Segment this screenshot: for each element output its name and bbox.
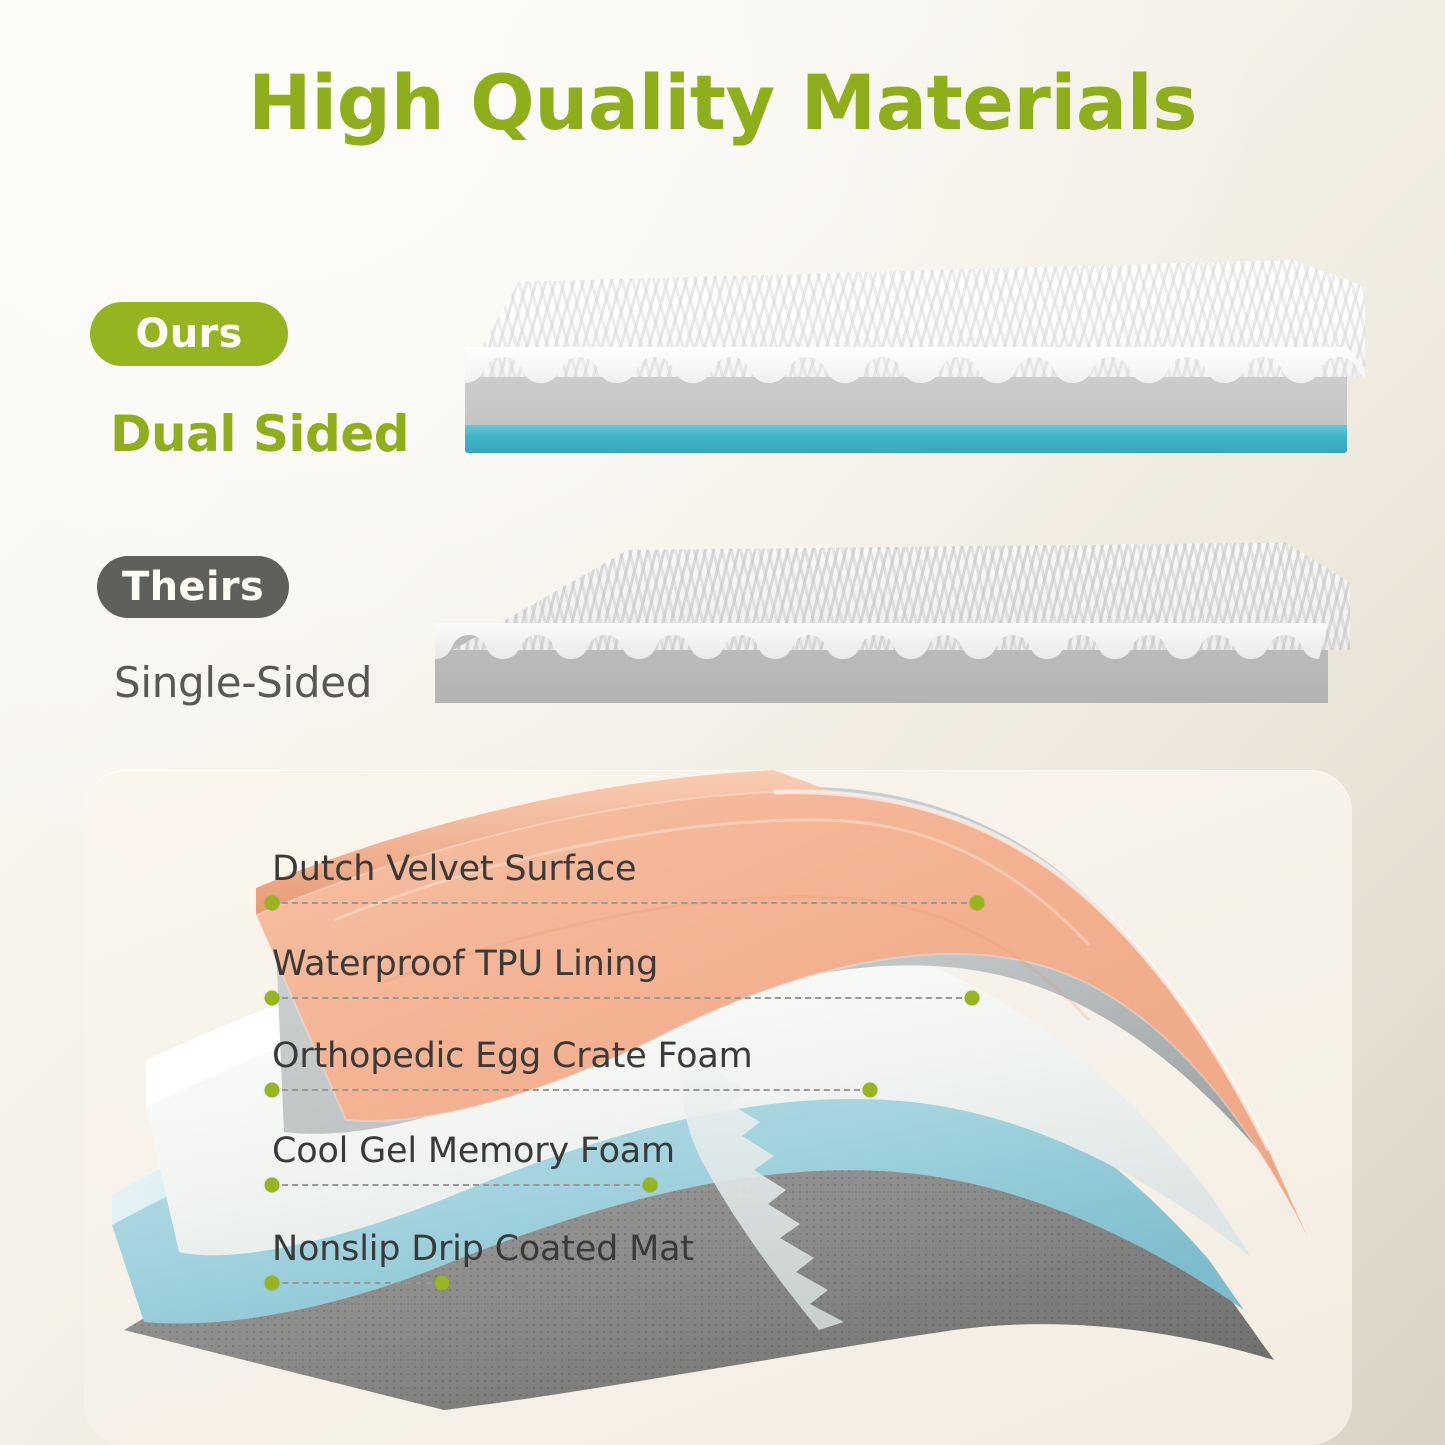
- ours-front-teeth: [430, 255, 1365, 470]
- theirs-front-teeth: [430, 525, 1350, 705]
- layer-dot-start: [265, 896, 280, 911]
- layer-label: Cool Gel Memory Foam: [272, 1131, 675, 1171]
- layer-dot-end: [435, 1276, 450, 1291]
- badge-ours: Ours: [90, 302, 288, 366]
- layer-callout: Waterproof TPU Lining: [84, 998, 1352, 999]
- infographic-root: High Quality Materials Ours Dual Sided T…: [0, 0, 1445, 1445]
- layer-callout: Nonslip Drip Coated Mat: [84, 1283, 1352, 1284]
- page-title: High Quality Materials: [0, 58, 1445, 147]
- layer-dot-end: [643, 1178, 658, 1193]
- layer-dot-end: [965, 991, 980, 1006]
- sublabel-ours: Dual Sided: [110, 405, 409, 463]
- layer-leader-line: [272, 1184, 650, 1186]
- layer-leader-line: [272, 1282, 442, 1284]
- layer-label: Orthopedic Egg Crate Foam: [272, 1036, 753, 1076]
- layer-dot-end: [863, 1083, 878, 1098]
- product-ours-illustration: [430, 255, 1365, 470]
- layer-dot-start: [265, 1276, 280, 1291]
- layer-dot-end: [970, 896, 985, 911]
- layer-dot-start: [265, 1083, 280, 1098]
- layer-leader-line: [272, 902, 977, 904]
- sublabel-theirs: Single-Sided: [114, 658, 372, 707]
- layer-leader-line: [272, 997, 972, 999]
- layer-dot-start: [265, 1178, 280, 1193]
- materials-card: Dutch Velvet SurfaceWaterproof TPU Linin…: [84, 770, 1352, 1445]
- layer-label: Waterproof TPU Lining: [272, 944, 658, 984]
- layer-callout: Dutch Velvet Surface: [84, 903, 1352, 904]
- layer-callout: Orthopedic Egg Crate Foam: [84, 1090, 1352, 1091]
- layer-leader-line: [272, 1089, 870, 1091]
- layer-dot-start: [265, 991, 280, 1006]
- badge-theirs: Theirs: [97, 556, 289, 618]
- layer-label: Nonslip Drip Coated Mat: [272, 1229, 694, 1269]
- layer-callout: Cool Gel Memory Foam: [84, 1185, 1352, 1186]
- product-theirs-illustration: [430, 525, 1350, 705]
- layer-label: Dutch Velvet Surface: [272, 849, 636, 889]
